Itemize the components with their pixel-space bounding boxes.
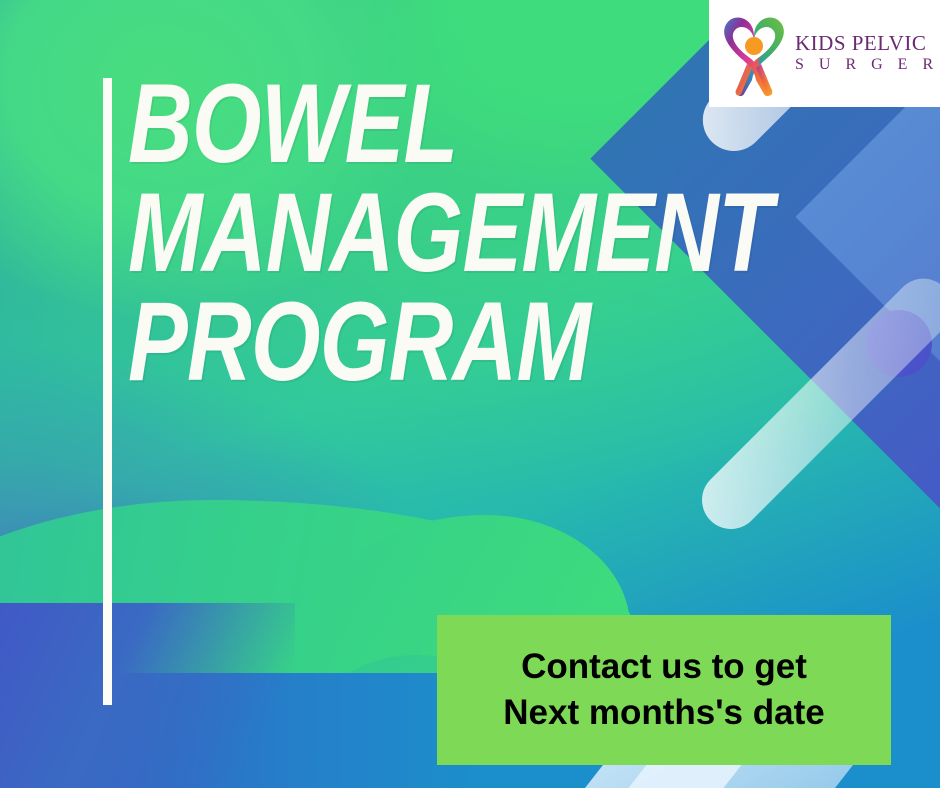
brand-name-secondary: S U R G E R Y: [795, 55, 940, 75]
white-vertical-rule: [103, 78, 112, 705]
headline-line-2: MANAGEMENT: [128, 181, 624, 284]
headline-line-1: BOWEL: [128, 72, 624, 175]
cta-line-2: Next months's date: [503, 691, 824, 735]
cta-line-1: Contact us to get: [521, 645, 807, 689]
purple-circle: [865, 310, 932, 377]
bottom-blue-purple-corner: [0, 603, 295, 788]
brand-logo-text: KIDS PELVIC S U R G E R Y: [795, 32, 940, 74]
brand-name-primary: KIDS PELVIC: [795, 32, 940, 54]
blue-diagonal-band-second: [795, 75, 940, 584]
kids-pelvic-surgery-heart-figure-logo-icon: [719, 10, 789, 98]
brand-logo-card: KIDS PELVIC S U R G E R Y: [709, 0, 940, 107]
poster-headline: BOWEL MANAGEMENT PROGRAM: [128, 72, 748, 393]
poster-canvas: BOWEL MANAGEMENT PROGRAM: [0, 0, 940, 788]
contact-cta-box[interactable]: Contact us to get Next months's date: [437, 615, 891, 765]
headline-line-3: PROGRAM: [128, 290, 624, 393]
